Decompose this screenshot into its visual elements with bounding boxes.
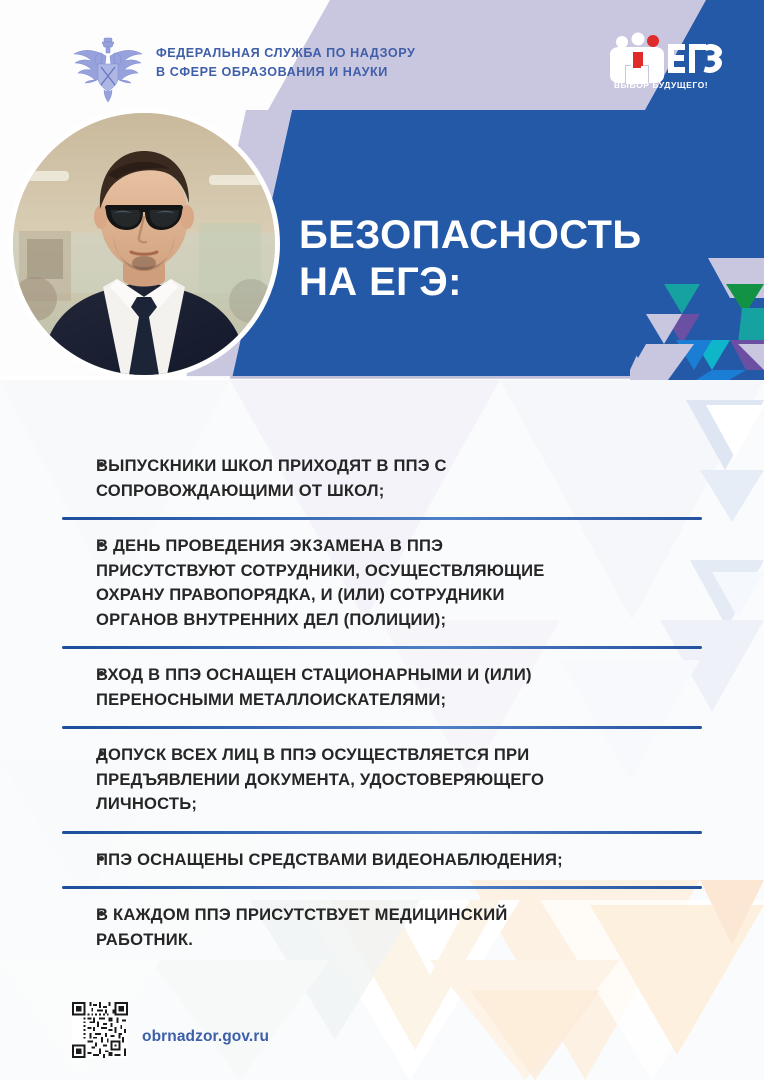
website-link[interactable]: obrnadzor.gov.ru <box>142 1028 269 1046</box>
page-title: БЕЗОПАСНОСТЬ НА ЕГЭ: <box>299 212 689 306</box>
list-item-text: ВЫПУСКНИКИ ШКОЛ ПРИХОДЯТ В ППЭ С СОПРОВО… <box>96 454 704 503</box>
organization-name: ФЕДЕРАЛЬНАЯ СЛУЖБА ПО НАДЗОРУ В СФЕРЕ ОБ… <box>156 44 415 82</box>
list-item: ППЭ ОСНАЩЕНЫ СРЕДСТВАМИ ВИДЕОНАБЛЮДЕНИЯ; <box>0 834 764 887</box>
bullet-marker <box>99 671 104 676</box>
bullet-marker <box>99 542 104 547</box>
bullet-marker <box>99 856 104 861</box>
qr-code[interactable] <box>72 1002 128 1058</box>
facts-list: ВЫПУСКНИКИ ШКОЛ ПРИХОДЯТ В ППЭ С СОПРОВО… <box>0 440 764 966</box>
bullet-marker <box>99 751 104 756</box>
poster-root: ФЕДЕРАЛЬНАЯ СЛУЖБА ПО НАДЗОРУ В СФЕРЕ ОБ… <box>0 0 764 1080</box>
list-item: ДОПУСК ВСЕХ ЛИЦ В ППЭ ОСУЩЕСТВЛЯЕТСЯ ПРИ… <box>0 729 764 831</box>
list-item-text: В КАЖДОМ ППЭ ПРИСУТСТВУЕТ МЕДИЦИНСКИЙ РА… <box>96 903 704 952</box>
rosobrnadzor-emblem-icon <box>68 30 148 102</box>
bullet-marker <box>99 911 104 916</box>
list-item-text: ВХОД В ППЭ ОСНАЩЕН СТАЦИОНАРНЫМИ И (ИЛИ)… <box>96 663 704 712</box>
security-guard-photo <box>8 108 280 380</box>
list-item-text: ППЭ ОСНАЩЕНЫ СРЕДСТВАМИ ВИДЕОНАБЛЮДЕНИЯ; <box>96 848 704 873</box>
list-item: ВХОД В ППЭ ОСНАЩЕН СТАЦИОНАРНЫМИ И (ИЛИ)… <box>0 649 764 726</box>
list-item-text: В ДЕНЬ ПРОВЕДЕНИЯ ЭКЗАМЕНА В ППЭ ПРИСУТС… <box>96 534 704 632</box>
list-item: В КАЖДОМ ППЭ ПРИСУТСТВУЕТ МЕДИЦИНСКИЙ РА… <box>0 889 764 966</box>
list-item: В ДЕНЬ ПРОВЕДЕНИЯ ЭКЗАМЕНА В ППЭ ПРИСУТС… <box>0 520 764 646</box>
list-item-text: ДОПУСК ВСЕХ ЛИЦ В ППЭ ОСУЩЕСТВЛЯЕТСЯ ПРИ… <box>96 743 704 817</box>
ege-tagline: ВЫБОР БУДУЩЕГО! <box>600 80 722 90</box>
list-item: ВЫПУСКНИКИ ШКОЛ ПРИХОДЯТ В ППЭ С СОПРОВО… <box>0 440 764 517</box>
bullet-marker <box>99 462 104 467</box>
